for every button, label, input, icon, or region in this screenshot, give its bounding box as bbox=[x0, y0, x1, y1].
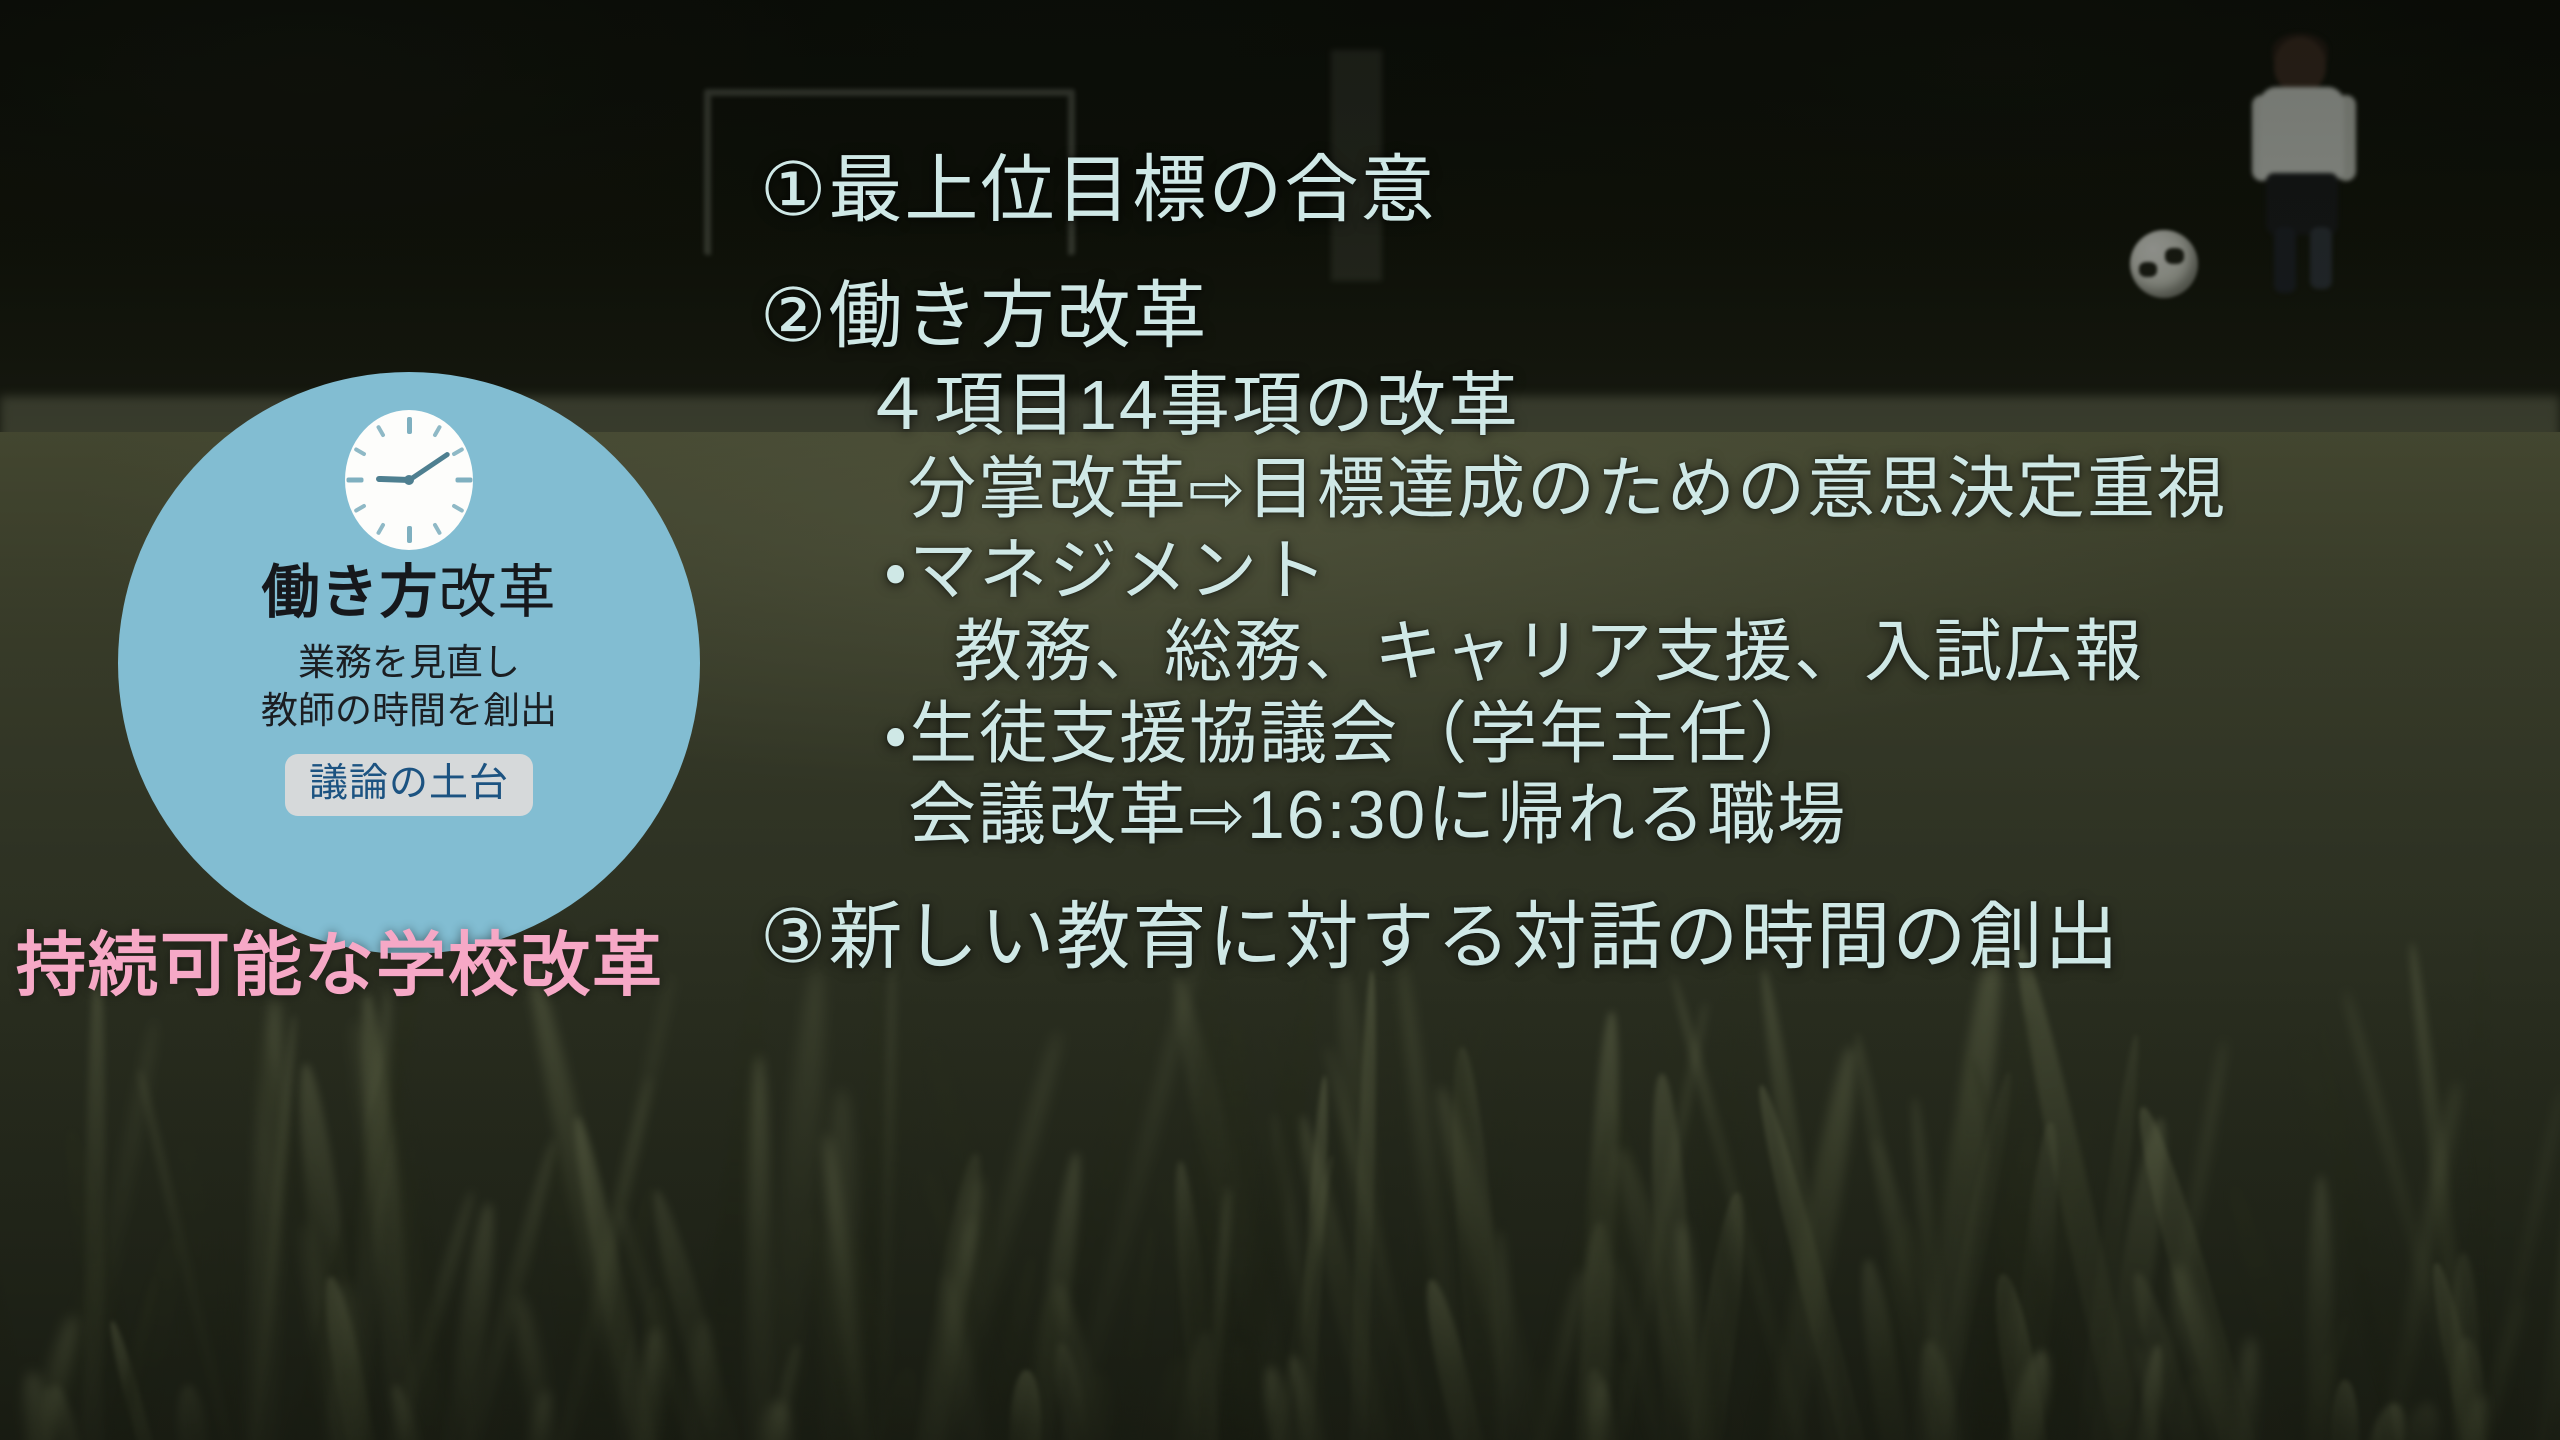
clock-tick bbox=[353, 503, 366, 513]
clock-icon bbox=[345, 410, 473, 550]
outline-item: 教務、総務、キャリア支援、入試広報 bbox=[954, 616, 2550, 689]
circle-title-bold: 働き方 bbox=[261, 560, 438, 625]
outline-item: ①最上位目標の合意 bbox=[760, 150, 2550, 230]
circle-title: 働き方改革 bbox=[261, 562, 556, 625]
clock-tick bbox=[407, 417, 412, 434]
outline-item: ・生徒支援協議会（学年主任） bbox=[884, 698, 2550, 771]
presentation-slide: 働き方改革 業務を見直し 教師の時間を創出 議論の土台 持続可能な学校改革 ①最… bbox=[0, 0, 2560, 1440]
clock-tick bbox=[432, 522, 442, 535]
clock-tick bbox=[346, 478, 363, 483]
clock-tick bbox=[432, 424, 442, 437]
outline-item: ・マネジメント bbox=[884, 535, 2550, 608]
clock-tick bbox=[407, 526, 412, 543]
clock-tick bbox=[376, 424, 386, 437]
clock-tick bbox=[451, 503, 464, 513]
circle-subtitle: 業務を見直し 教師の時間を創出 bbox=[261, 639, 557, 737]
sustainable-school-reform-caption: 持続可能な学校改革 bbox=[16, 930, 664, 1000]
work-style-reform-circle: 働き方改革 業務を見直し 教師の時間を創出 議論の土台 bbox=[118, 372, 700, 954]
outline-item: ③新しい教育に対する対話の時間の創出 bbox=[760, 897, 2550, 977]
outline-item: ②働き方改革 bbox=[760, 276, 2550, 356]
circle-subtitle-line-2: 教師の時間を創出 bbox=[261, 687, 557, 736]
circle-subtitle-line-1: 業務を見直し bbox=[261, 639, 557, 688]
clock-tick bbox=[455, 478, 472, 483]
clock-tick bbox=[376, 522, 386, 535]
clock-tick bbox=[451, 447, 464, 457]
outline-item: 会議改革⇨16:30に帰れる職場 bbox=[908, 779, 2550, 852]
outline-item: 分掌改革⇨目標達成のための意思決定重視 bbox=[908, 453, 2550, 526]
clock-center-pin bbox=[404, 475, 414, 485]
circle-title-rest: 改革 bbox=[439, 560, 557, 625]
discussion-foundation-badge: 議論の土台 bbox=[285, 754, 533, 816]
outline-item: ４項目14事項の改革 bbox=[862, 368, 2550, 444]
clock-tick bbox=[353, 447, 366, 457]
outline-list: ①最上位目標の合意②働き方改革４項目14事項の改革分掌改革⇨目標達成のための意思… bbox=[760, 150, 2550, 977]
clock-minute-hand bbox=[408, 451, 451, 482]
